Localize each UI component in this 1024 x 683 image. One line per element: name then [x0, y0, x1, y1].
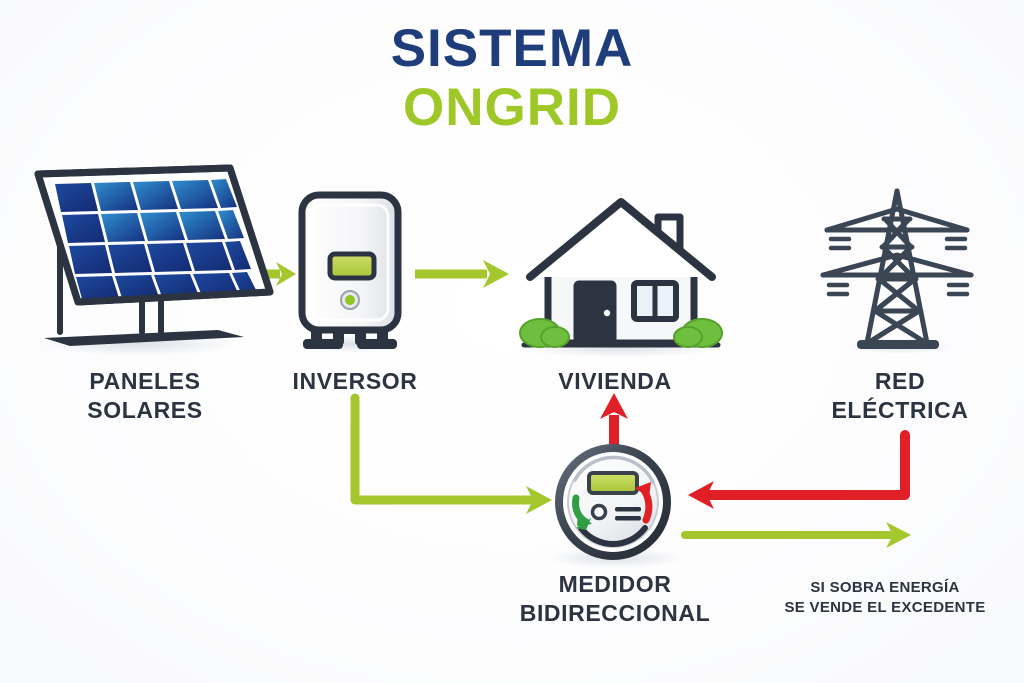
note-excedente: SI SOBRA ENERGÍA SE VENDE EL EXCEDENTE: [755, 578, 1015, 619]
solar-panel-icon: [30, 160, 280, 360]
flow-inversor-medidor: [355, 398, 552, 514]
label-vivienda: VIVIENDA: [520, 367, 710, 396]
flow-red-medidor: [688, 435, 905, 509]
label-inversor: INVERSOR: [255, 367, 455, 396]
flow-inversor-vivienda: [415, 260, 509, 288]
label-red-electrica: RED ELÉCTRICA: [800, 367, 1000, 426]
diagram-canvas: SISTEMA ONGRID: [0, 0, 1024, 683]
bidirectional-meter-icon: [545, 440, 685, 565]
house-icon: [510, 195, 730, 355]
flow-medidor-red: [685, 522, 911, 548]
transmission-tower-icon: [805, 185, 995, 355]
label-paneles-solares: PANELES SOLARES: [35, 367, 255, 426]
inverter-icon: [285, 185, 415, 355]
label-medidor-bidireccional: MEDIDOR BIDIRECCIONAL: [505, 570, 725, 629]
